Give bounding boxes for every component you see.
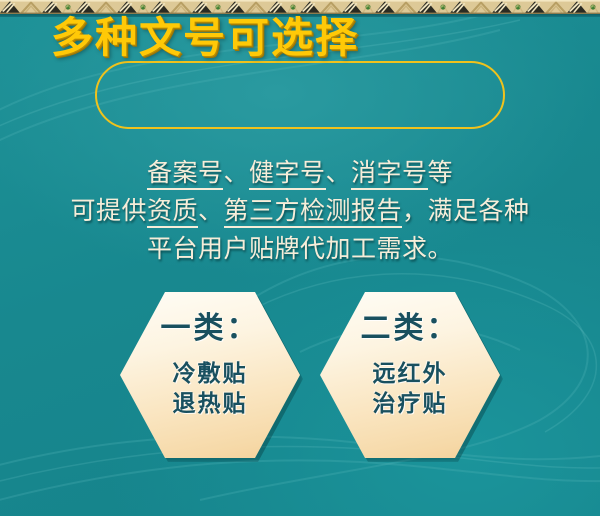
body-line: 平台用户贴牌代加工需求。 [0, 231, 600, 269]
body-segment: 、 [198, 198, 224, 225]
category-item-list: 冷敷贴 退热贴 [173, 359, 248, 419]
category-hexagon-2-content: 二类： 远红外 治疗贴 [320, 292, 500, 458]
promo-poster: 多种文号可选择 备案号、健字号、消字号等 可提供资质、第三方检测报告，满足各种 … [0, 0, 600, 516]
body-segment: 等 [428, 160, 454, 187]
category-hexagon-1-content: 一类： 冷敷贴 退热贴 [120, 292, 300, 458]
category-item-list: 远红外 治疗贴 [373, 359, 448, 419]
category-item: 退热贴 [173, 389, 248, 419]
body-line: 可提供资质、第三方检测报告，满足各种 [0, 193, 600, 231]
body-segment-underlined: 第三方检测报告 [224, 198, 403, 228]
body-segment: 、 [223, 160, 249, 187]
category-item: 治疗贴 [373, 389, 448, 419]
category-item: 冷敷贴 [173, 359, 248, 389]
body-segment-underlined: 资质 [147, 198, 198, 228]
title-pill-frame [95, 61, 505, 129]
body-segment: ，满足各种 [402, 198, 530, 225]
body-line: 备案号、健字号、消字号等 [0, 155, 600, 193]
page-title: 多种文号可选择 [0, 0, 410, 68]
body-segment: 平台用户贴牌代加工需求。 [147, 236, 453, 263]
body-segment: 可提供 [70, 198, 147, 225]
body-segment-underlined: 消字号 [351, 160, 428, 190]
category-item: 远红外 [373, 359, 448, 389]
category-heading: 二类： [361, 312, 460, 347]
body-paragraph: 备案号、健字号、消字号等 可提供资质、第三方检测报告，满足各种 平台用户贴牌代加… [0, 155, 600, 269]
category-heading: 一类： [161, 312, 260, 347]
body-segment: 、 [326, 160, 352, 187]
body-segment-underlined: 备案号 [147, 160, 224, 190]
body-segment-underlined: 健字号 [249, 160, 326, 190]
